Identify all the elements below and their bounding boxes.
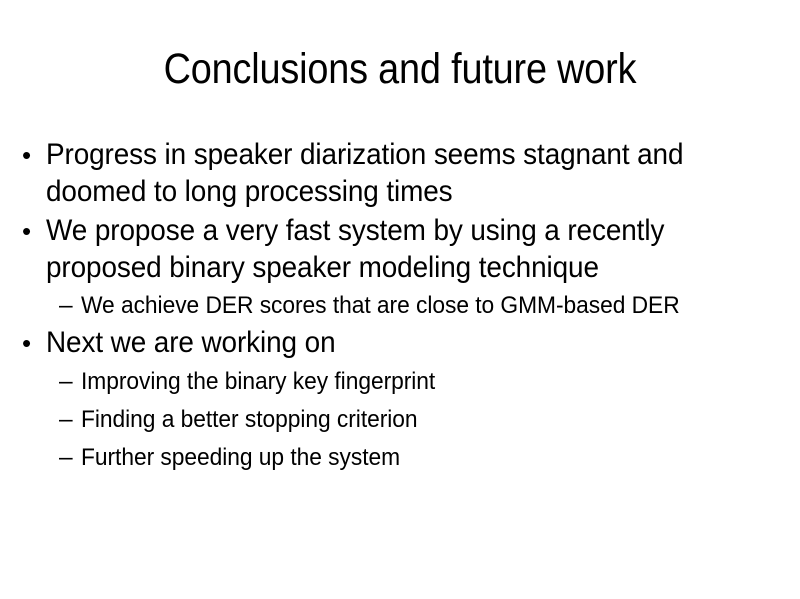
sub-bullet-item-4: – Further speeding up the system	[59, 439, 792, 476]
slide-body: • Progress in speaker diarization seems …	[22, 137, 792, 476]
bullet-marker-dot: •	[22, 137, 46, 174]
bullet-marker-dash: –	[59, 439, 81, 476]
sub-bullet-text: We achieve DER scores that are close to …	[81, 287, 742, 324]
bullet-marker-dot: •	[22, 213, 46, 250]
bullet-text: Progress in speaker diarization seems st…	[46, 137, 740, 210]
bullet-item-2: • We propose a very fast system by using…	[22, 213, 792, 286]
bullet-marker-dash: –	[59, 363, 81, 400]
sub-bullet-text: Further speeding up the system	[81, 439, 742, 476]
bullet-marker-dot: •	[22, 325, 46, 362]
bullet-marker-dash: –	[59, 401, 81, 438]
presentation-slide: Conclusions and future work • Progress i…	[0, 0, 800, 599]
sub-bullet-text: Finding a better stopping criterion	[81, 401, 742, 438]
bullet-text: We propose a very fast system by using a…	[46, 213, 740, 286]
sub-bullet-item-3: – Finding a better stopping criterion	[59, 401, 792, 438]
sub-bullet-item-2: – Improving the binary key fingerprint	[59, 363, 792, 400]
bullet-item-1: • Progress in speaker diarization seems …	[22, 137, 792, 210]
bullet-text: Next we are working on	[46, 325, 740, 362]
bullet-item-3: • Next we are working on	[22, 325, 792, 362]
sub-bullet-item-1: – We achieve DER scores that are close t…	[59, 287, 792, 324]
bullet-marker-dash: –	[59, 287, 81, 324]
slide-title: Conclusions and future work	[48, 44, 752, 94]
sub-bullet-text: Improving the binary key fingerprint	[81, 363, 742, 400]
